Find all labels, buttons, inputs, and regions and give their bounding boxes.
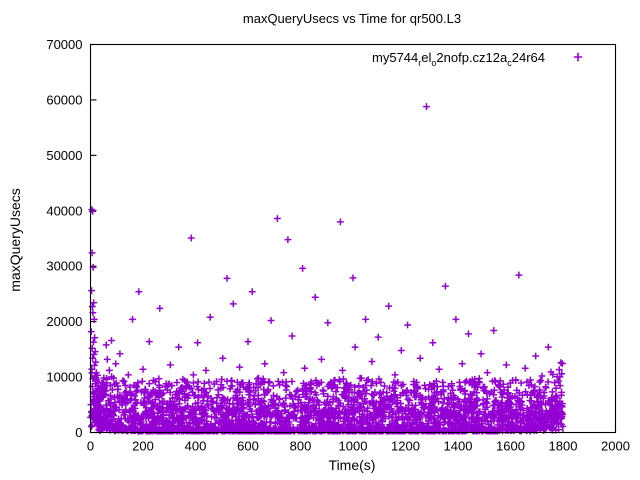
y-tick-label: 40000 [46,203,82,218]
legend-text-part: my5744 [372,50,418,65]
y-tick-label: 30000 [46,259,82,274]
y-tick-label: 50000 [46,148,82,163]
y-axis-label: maxQueryUsecs [7,188,23,291]
x-tick-label: 800 [290,439,312,454]
x-tick-label: 1200 [391,439,420,454]
legend-text-part: 24r64 [512,50,545,65]
chart-title: maxQueryUsecs vs Time for qr500.L3 [243,11,461,26]
x-tick-label: 1600 [496,439,525,454]
y-tick-label: 70000 [46,37,82,52]
x-tick-label: 0 [87,439,94,454]
x-tick-label: 1400 [444,439,473,454]
x-tick-label: 1000 [339,439,368,454]
scatter-plot: maxQueryUsecs vs Time for qr500.L3 maxQu… [0,0,640,480]
x-tick-label: 400 [185,439,207,454]
x-tick-label: 200 [132,439,154,454]
y-tick-label: 20000 [46,314,82,329]
x-tick-label: 2000 [601,439,630,454]
chart-container: maxQueryUsecs vs Time for qr500.L3 maxQu… [0,0,640,480]
x-axis-label: Time(s) [329,457,376,473]
y-tick-label: 0 [75,425,82,440]
x-tick-label: 600 [237,439,259,454]
x-tick-label: 1800 [549,439,578,454]
y-tick-label: 60000 [46,92,82,107]
y-tick-label: 10000 [46,370,82,385]
legend-text-part: 2nofp.cz12a [436,50,508,65]
legend-text-part: el [421,50,431,65]
